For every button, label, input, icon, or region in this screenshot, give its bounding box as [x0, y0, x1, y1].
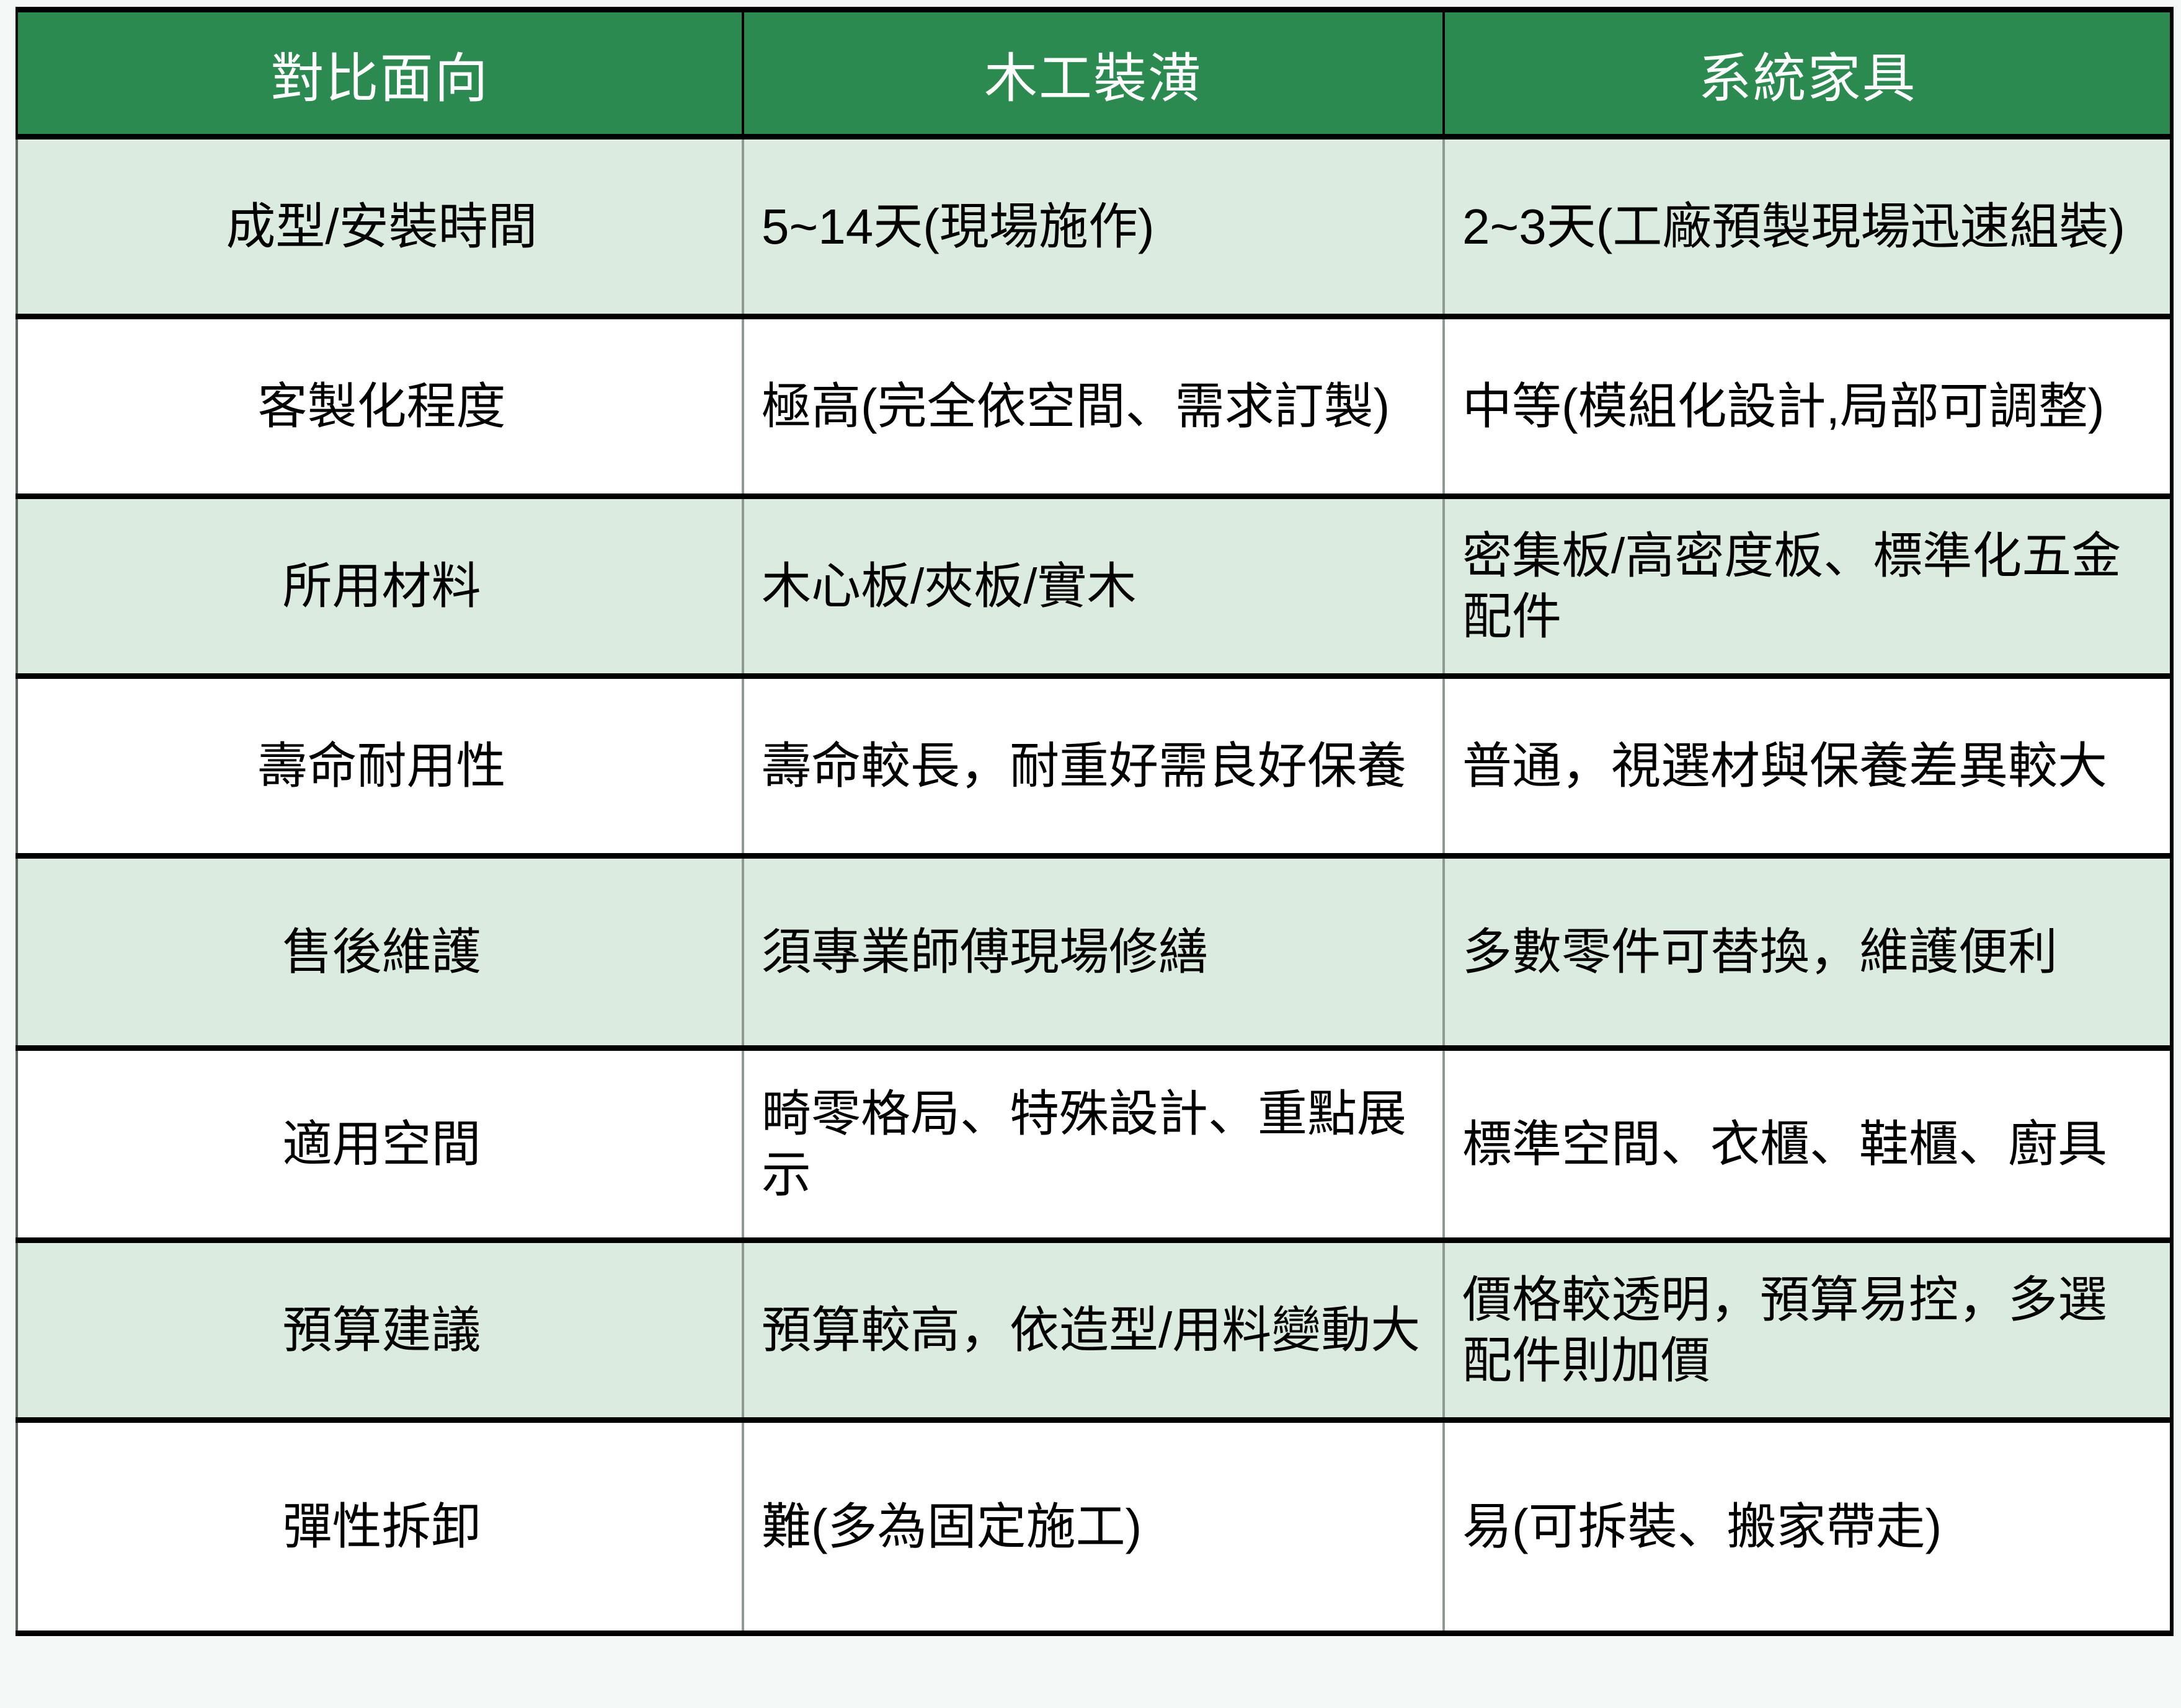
cell-woodwork-suitable-space: 畸零格局、特殊設計、重點展示 [743, 1048, 1444, 1241]
column-header-aspect: 對比面向 [17, 10, 743, 137]
cell-woodwork-dismantling: 難(多為固定施工) [743, 1420, 1444, 1634]
row-label-budget: 預算建議 [17, 1241, 743, 1420]
cell-woodwork-materials: 木心板/夾板/實木 [743, 497, 1444, 676]
cell-system-suitable-space: 標準空間、衣櫃、鞋櫃、廚具 [1444, 1048, 2172, 1241]
table-row: 售後維護 須專業師傅現場修繕 多數零件可替換，維護便利 [17, 856, 2172, 1048]
row-label-customization: 客製化程度 [17, 317, 743, 497]
table-row: 壽命耐用性 壽命較長，耐重好需良好保養 普通，視選材與保養差異較大 [17, 676, 2172, 856]
cell-system-dismantling: 易(可拆裝、搬家帶走) [1444, 1420, 2172, 1634]
cell-system-after-sales: 多數零件可替換，維護便利 [1444, 856, 2172, 1048]
comparison-table-container: 對比面向 木工裝潢 系統家具 成型/安裝時間 5~14天(現場施作) 2~3天(… [16, 7, 2170, 1696]
table-row: 預算建議 預算較高，依造型/用料變動大 價格較透明，預算易控，多選配件則加價 [17, 1241, 2172, 1420]
column-header-system-furniture: 系統家具 [1444, 10, 2172, 137]
cell-woodwork-budget: 預算較高，依造型/用料變動大 [743, 1241, 1444, 1420]
header-row: 對比面向 木工裝潢 系統家具 [17, 10, 2172, 137]
cell-woodwork-install-time: 5~14天(現場施作) [743, 137, 1444, 317]
row-label-after-sales: 售後維護 [17, 856, 743, 1048]
table-row: 適用空間 畸零格局、特殊設計、重點展示 標準空間、衣櫃、鞋櫃、廚具 [17, 1048, 2172, 1241]
cell-system-budget: 價格較透明，預算易控，多選配件則加價 [1444, 1241, 2172, 1420]
row-label-durability: 壽命耐用性 [17, 676, 743, 856]
cell-woodwork-after-sales: 須專業師傅現場修繕 [743, 856, 1444, 1048]
cell-system-durability: 普通，視選材與保養差異較大 [1444, 676, 2172, 856]
table-row: 所用材料 木心板/夾板/實木 密集板/高密度板、標準化五金配件 [17, 497, 2172, 676]
table-row: 彈性拆卸 難(多為固定施工) 易(可拆裝、搬家帶走) [17, 1420, 2172, 1634]
row-label-dismantling: 彈性拆卸 [17, 1420, 743, 1634]
cell-woodwork-durability: 壽命較長，耐重好需良好保養 [743, 676, 1444, 856]
table-header: 對比面向 木工裝潢 系統家具 [17, 10, 2172, 137]
table-body: 成型/安裝時間 5~14天(現場施作) 2~3天(工廠預製現場迅速組裝) 客製化… [17, 137, 2172, 1634]
cell-woodwork-customization: 極高(完全依空間、需求訂製) [743, 317, 1444, 497]
table-row: 客製化程度 極高(完全依空間、需求訂製) 中等(模組化設計,局部可調整) [17, 317, 2172, 497]
cell-system-install-time: 2~3天(工廠預製現場迅速組裝) [1444, 137, 2172, 317]
cell-system-customization: 中等(模組化設計,局部可調整) [1444, 317, 2172, 497]
row-label-suitable-space: 適用空間 [17, 1048, 743, 1241]
comparison-table: 對比面向 木工裝潢 系統家具 成型/安裝時間 5~14天(現場施作) 2~3天(… [16, 7, 2174, 1636]
table-row: 成型/安裝時間 5~14天(現場施作) 2~3天(工廠預製現場迅速組裝) [17, 137, 2172, 317]
column-header-woodwork: 木工裝潢 [743, 10, 1444, 137]
row-label-install-time: 成型/安裝時間 [17, 137, 743, 317]
cell-system-materials: 密集板/高密度板、標準化五金配件 [1444, 497, 2172, 676]
row-label-materials: 所用材料 [17, 497, 743, 676]
